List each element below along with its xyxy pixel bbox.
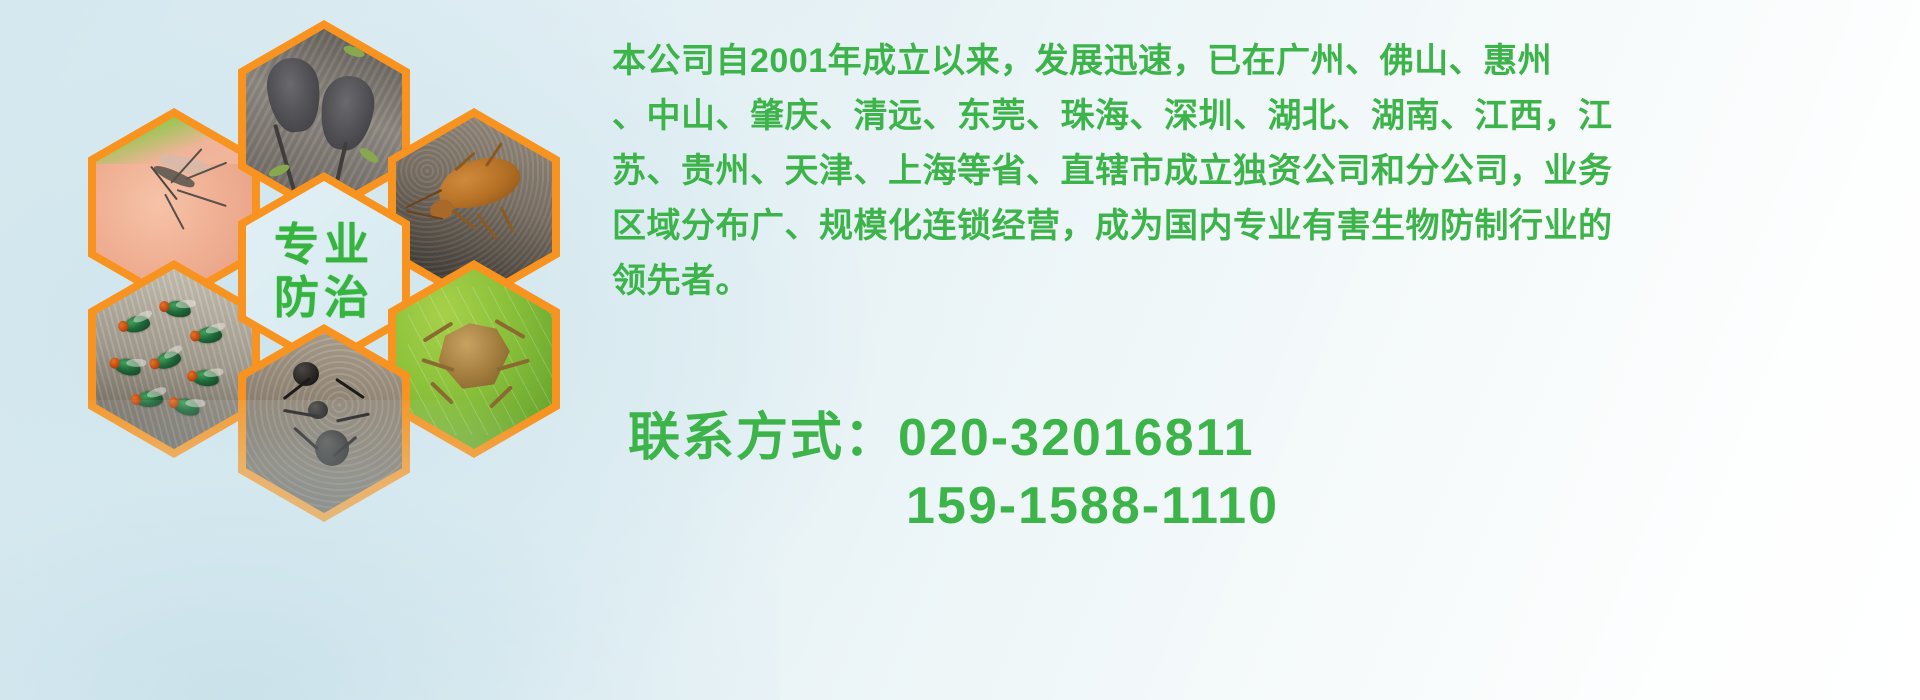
contact-phone-primary[interactable]: 联系方式：020-32016811 xyxy=(628,404,1908,472)
badge-line-1: 专业 xyxy=(274,218,374,271)
hexagon-photo-cluster: 专业 防治 xyxy=(88,8,588,548)
description-line-1: 本公司自2001年成立以来，发展迅速，已在广州、佛山、惠州 xyxy=(612,34,1900,89)
hex-photo-ant xyxy=(238,324,410,522)
stink-bug-icon xyxy=(396,269,552,449)
contact-block: 联系方式：020-32016811 159-1588-1110 xyxy=(628,404,1908,540)
description-line-3: 苏、贵州、天津、上海等省、直辖市成立独资公司和分公司，业务 xyxy=(612,144,1900,199)
fly-icon xyxy=(96,269,252,449)
description-line-5: 领先者。 xyxy=(612,254,1900,309)
hex-photo-flies xyxy=(88,260,260,458)
description-line-2: 、中山、肇庆、清远、东莞、珠海、深圳、湖北、湖南、江西，江 xyxy=(612,89,1900,144)
badge-line-2: 防治 xyxy=(274,271,374,324)
company-description: 本公司自2001年成立以来，发展迅速，已在广州、佛山、惠州 、中山、肇庆、清远、… xyxy=(612,34,1900,309)
hex-photo-stink-bug xyxy=(388,260,560,458)
badge-text: 专业 防治 xyxy=(274,218,374,324)
ant-icon xyxy=(246,333,402,513)
description-line-4: 区域分布广、规模化连锁经营，成为国内专业有害生物防制行业的 xyxy=(612,199,1900,254)
promo-banner: 专业 防治 xyxy=(0,0,1920,700)
contact-phone-secondary[interactable]: 159-1588-1110 xyxy=(628,472,1908,540)
